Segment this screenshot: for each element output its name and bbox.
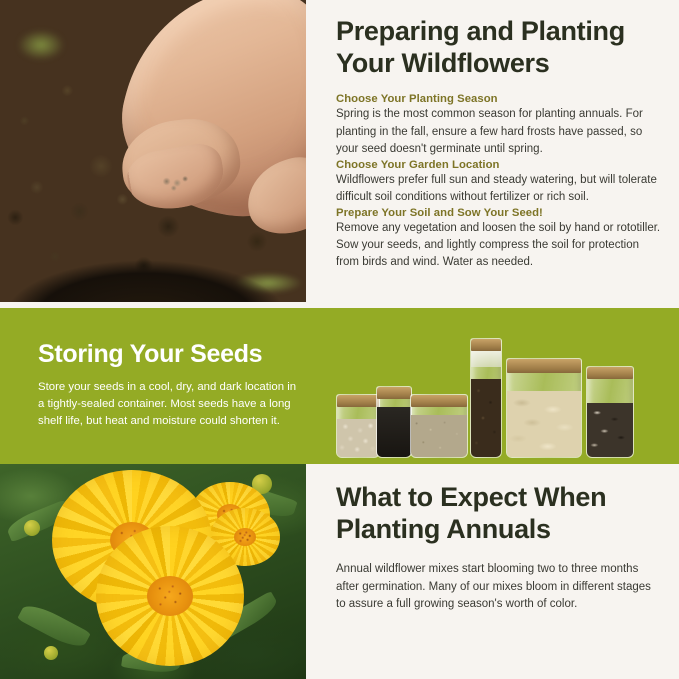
- cork-stopper-icon: [377, 387, 411, 399]
- jar-contents: [411, 415, 467, 457]
- block-planting-season: Choose Your Planting Season Spring is th…: [336, 93, 661, 158]
- body-garden-location: Wildflowers prefer full sun and steady w…: [336, 172, 661, 207]
- seed-jar: [376, 386, 412, 458]
- section-preparing-and-planting: Preparing and Planting Your Wildflowers …: [0, 0, 679, 308]
- subheading-planting-season: Choose Your Planting Season: [336, 93, 661, 105]
- flower-bud-icon: [44, 646, 58, 660]
- jar-neck: [471, 351, 501, 367]
- seed-jar: [470, 338, 502, 458]
- infographic-page: Preparing and Planting Your Wildflowers …: [0, 0, 679, 679]
- flower-bloom: [96, 526, 244, 666]
- subheading-prepare-soil: Prepare Your Soil and Sow Your Seed!: [336, 207, 661, 219]
- cork-stopper-icon: [337, 395, 379, 407]
- jar-contents: [587, 403, 633, 457]
- jar-contents: [377, 407, 411, 457]
- expect-title: What to Expect When Planting Annuals: [336, 482, 661, 545]
- seed-jar: [506, 358, 582, 458]
- cork-stopper-icon: [507, 359, 581, 373]
- block-garden-location: Choose Your Garden Location Wildflowers …: [336, 159, 661, 207]
- section-what-to-expect: What to Expect When Planting Annuals Ann…: [0, 464, 679, 679]
- cork-stopper-icon: [411, 395, 467, 407]
- expect-body: Annual wildflower mixes start blooming t…: [336, 561, 661, 613]
- block-prepare-soil: Prepare Your Soil and Sow Your Seed! Rem…: [336, 207, 661, 272]
- soil-planting-image: [0, 0, 306, 302]
- flower-bud-icon: [24, 520, 40, 536]
- yellow-flower-image: [0, 464, 306, 679]
- body-planting-season: Spring is the most common season for pla…: [336, 106, 661, 158]
- jar-contents: [471, 379, 501, 457]
- seed-jar: [410, 394, 468, 458]
- seed-jars-image: [330, 324, 679, 464]
- cork-stopper-icon: [471, 339, 501, 351]
- flower-center: [234, 528, 256, 546]
- storing-body: Store your seeds in a cool, dry, and dar…: [38, 379, 304, 431]
- preparing-text-column: Preparing and Planting Your Wildflowers …: [306, 0, 679, 308]
- storing-title: Storing Your Seeds: [38, 341, 304, 369]
- expect-text-column: What to Expect When Planting Annuals Ann…: [306, 464, 679, 679]
- cork-stopper-icon: [587, 367, 633, 379]
- sprout-icon: [18, 30, 64, 60]
- page-title: Preparing and Planting Your Wildflowers: [336, 16, 661, 79]
- jar-contents: [337, 419, 379, 457]
- flower-center: [147, 576, 193, 616]
- section-storing-your-seeds: Storing Your Seeds Store your seeds in a…: [0, 308, 679, 464]
- seed-jar: [336, 394, 380, 458]
- storing-text-column: Storing Your Seeds Store your seeds in a…: [0, 341, 330, 430]
- jar-contents: [507, 391, 581, 457]
- seed-jar: [586, 366, 634, 458]
- body-prepare-soil: Remove any vegetation and loosen the soi…: [336, 220, 661, 272]
- subheading-garden-location: Choose Your Garden Location: [336, 159, 661, 171]
